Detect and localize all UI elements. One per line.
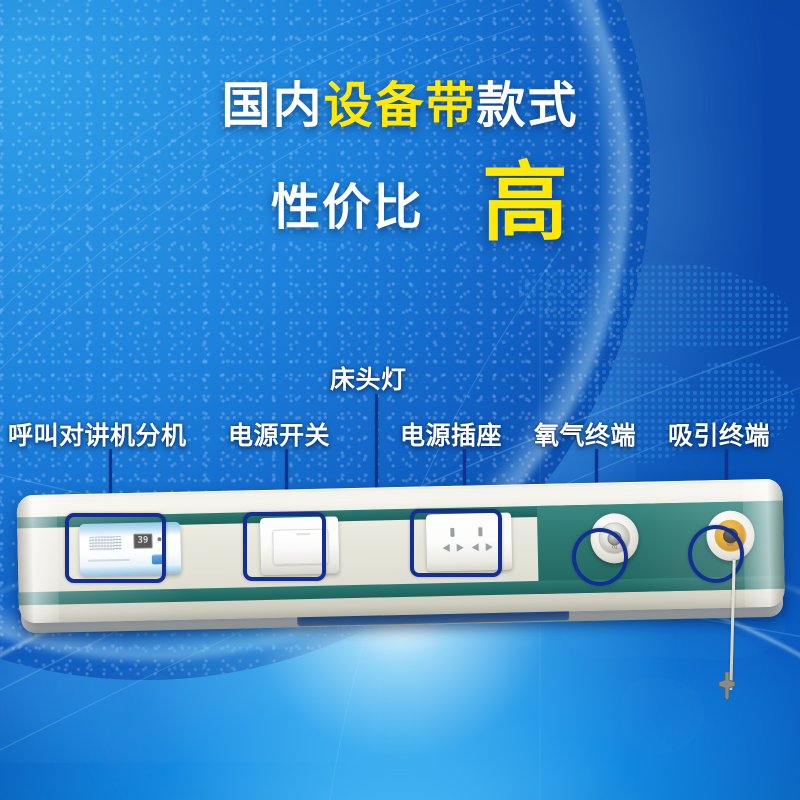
callout-label-intercom: 呼叫对讲机分机 (8, 416, 187, 452)
page-subtitle: 性价比 高 (0, 160, 800, 246)
page-title: 国内设备带款式 (0, 78, 800, 134)
headline-highlight: 设备带 (323, 77, 476, 134)
callout-label-bed-lamp: 床头灯 (330, 360, 407, 396)
headline-part2: 款式 (477, 77, 579, 134)
panel-end-cap-left (16, 495, 59, 624)
highlight-box-power-switch (243, 512, 326, 581)
callout-label-oxygen: 氧气终端 (534, 416, 636, 452)
callout-label-power-socket: 电源插座 (400, 416, 502, 452)
headline-part1: 国内 (221, 77, 323, 134)
callout-label-suction: 吸引终端 (668, 416, 770, 452)
subtitle-white-text: 性价比 (271, 168, 424, 239)
panel-end-cap-right (742, 479, 785, 608)
callout-label-power-switch: 电源开关 (228, 416, 330, 452)
highlight-ring-oxygen (572, 528, 628, 586)
highlight-ring-suction (688, 525, 744, 583)
highlight-box-intercom (65, 513, 166, 583)
highlight-box-power-socket (410, 509, 502, 577)
poster-canvas: 国内设备带款式 性价比 高 呼叫对讲机分机 电源开关 床头灯 电源插座 氧气终端… (0, 0, 800, 800)
subtitle-yellow-text: 高 (482, 160, 569, 246)
suction-probe-icon (716, 672, 738, 700)
